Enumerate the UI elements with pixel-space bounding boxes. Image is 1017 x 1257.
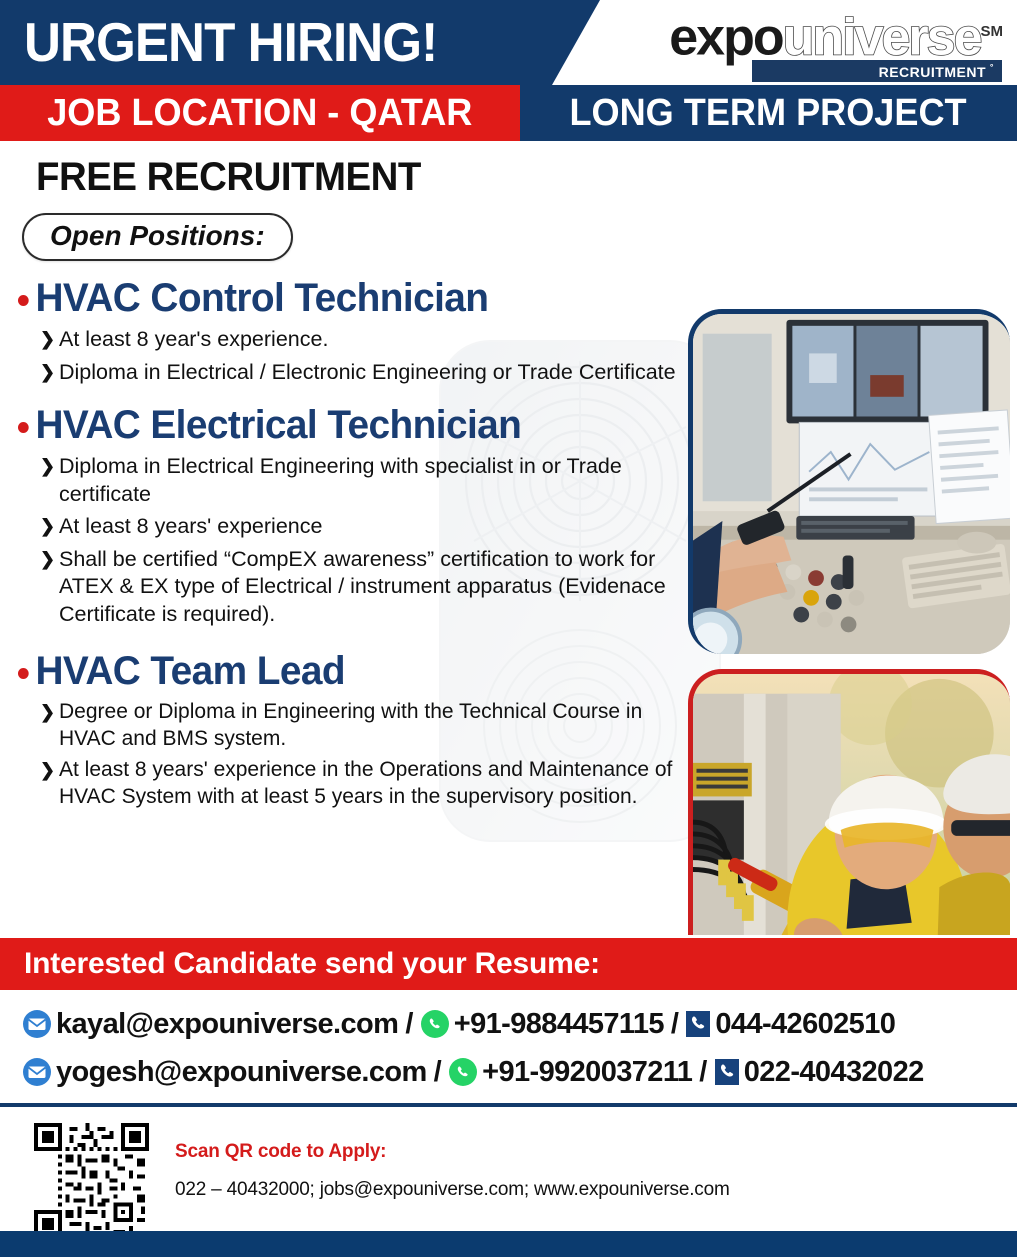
job-location-banner: JOB LOCATION - QATAR [0,85,520,141]
poster-header: URGENT HIRING! expouniverseSM RECRUITMEN… [0,0,1017,85]
separator: / [671,1008,678,1041]
job-title-row: HVAC Team Lead [18,648,680,694]
subheader-bars: JOB LOCATION - QATAR LONG TERM PROJECT [0,85,1017,141]
chevron-right-icon: ❯ [40,453,55,481]
requirement-item: ❯ Degree or Diploma in Engineering with … [40,699,680,752]
logo-trademark: SM [981,23,1004,40]
job-listing: HVAC Electrical Technician ❯ Diploma in … [18,402,700,628]
logo-tagline-text: RECRUITMENT 360° [990,62,994,79]
chevron-right-icon: ❯ [40,757,55,784]
email-icon [22,1057,52,1087]
logo-expo-text: expo [669,8,782,66]
footer-bar [0,1231,1017,1257]
project-type-banner: LONG TERM PROJECT [520,85,1017,141]
requirement-item: ❯ At least 8 years' experience [40,513,680,541]
job-title-row: HVAC Control Technician [18,275,680,321]
footer-divider [0,1103,1017,1107]
logo-wordmark: expouniverseSM [583,4,1003,65]
job-listing: HVAC Control Technician ❯ At least 8 yea… [18,275,700,386]
requirement-list: ❯ At least 8 year's experience. ❯ Diplom… [40,326,700,386]
job-location-text: JOB LOCATION - QATAR [47,92,472,135]
requirement-item: ❯ Shall be certified “CompEX awareness” … [40,546,680,629]
contact-email[interactable]: yogesh@expouniverse.com [56,1056,427,1089]
qr-title: Scan QR code to Apply: [175,1141,730,1163]
requirement-item: ❯ Diploma in Electrical / Electronic Eng… [40,359,680,387]
chevron-right-icon: ❯ [40,359,55,387]
chevron-right-icon: ❯ [40,326,55,354]
chevron-right-icon: ❯ [40,699,55,726]
contact-row: kayal@expouniverse.com / +91-9884457115 … [22,1000,1017,1048]
whatsapp-icon [420,1009,450,1039]
resume-banner: Interested Candidate send your Resume: [0,938,1017,990]
logo-tagline-bar: RECRUITMENT 360° [752,60,1002,82]
requirement-text: Degree or Diploma in Engineering with th… [59,700,642,750]
resume-banner-text: Interested Candidate send your Resume: [24,947,600,981]
phone-icon [685,1010,711,1038]
requirement-item: ❯ At least 8 years' experience in the Op… [40,757,680,810]
contact-whatsapp[interactable]: +91-9920037211 [482,1056,692,1089]
requirement-list: ❯ Degree or Diploma in Engineering with … [40,699,700,810]
contact-phone[interactable]: 044-42602510 [715,1008,895,1041]
job-title-row: HVAC Electrical Technician [18,402,680,448]
logo-universe-text: universe [783,8,981,66]
qr-footer: Scan QR code to Apply: 022 – 40432000; j… [0,1115,1017,1235]
separator: / [699,1056,706,1089]
positions-column: FREE RECRUITMENT Open Positions: HVAC Co… [0,141,700,935]
requirement-text: At least 8 years' experience [59,514,322,538]
contact-phone[interactable]: 022-40432022 [744,1056,924,1089]
contact-whatsapp[interactable]: +91-9884457115 [454,1008,664,1041]
headline: URGENT HIRING! [24,6,437,78]
requirement-list: ❯ Diploma in Electrical Engineering with… [40,453,700,628]
photo-electricians [688,669,1010,935]
separator: / [405,1008,412,1041]
company-logo: expouniverseSM RECRUITMENT 360° [583,4,1003,84]
bullet-dot-icon [18,422,29,433]
free-recruitment-heading: FREE RECRUITMENT [36,155,673,200]
job-title-text: HVAC Electrical Technician [35,402,521,448]
separator: / [434,1056,441,1089]
requirement-text: Diploma in Electrical Engineering with s… [59,454,622,506]
requirement-text: At least 8 year's experience. [59,327,328,351]
open-positions-pill: Open Positions: [22,213,293,261]
requirement-text: Diploma in Electrical / Electronic Engin… [59,360,676,384]
job-title-text: HVAC Team Lead [35,648,345,694]
chevron-right-icon: ❯ [40,546,55,574]
photo-control-room [688,309,1010,654]
qr-text-block: Scan QR code to Apply: 022 – 40432000; j… [175,1141,730,1201]
project-type-text: LONG TERM PROJECT [570,92,967,135]
bullet-dot-icon [18,295,29,306]
job-title-text: HVAC Control Technician [35,275,488,321]
requirement-item: ❯ Diploma in Electrical Engineering with… [40,453,680,508]
requirement-item: ❯ At least 8 year's experience. [40,326,680,354]
email-icon [22,1009,52,1039]
requirement-text: Shall be certified “CompEX awareness” ce… [59,547,666,626]
bullet-dot-icon [18,668,29,679]
whatsapp-icon [448,1057,478,1087]
poster-body: FREE RECRUITMENT Open Positions: HVAC Co… [0,141,1017,935]
degree-symbol: ° [990,62,994,72]
job-listing: HVAC Team Lead ❯ Degree or Diploma in En… [18,648,700,810]
phone-icon [714,1058,740,1086]
qr-contact-line: 022 – 40432000; jobs@expouniverse.com; w… [175,1179,730,1201]
contact-email[interactable]: kayal@expouniverse.com [56,1008,398,1041]
chevron-right-icon: ❯ [40,513,55,541]
requirement-text: At least 8 years' experience in the Oper… [59,758,672,808]
contact-list: kayal@expouniverse.com / +91-9884457115 … [0,1000,1017,1096]
contact-row: yogesh@expouniverse.com / +91-9920037211… [22,1048,1017,1096]
qr-code[interactable] [34,1123,149,1238]
